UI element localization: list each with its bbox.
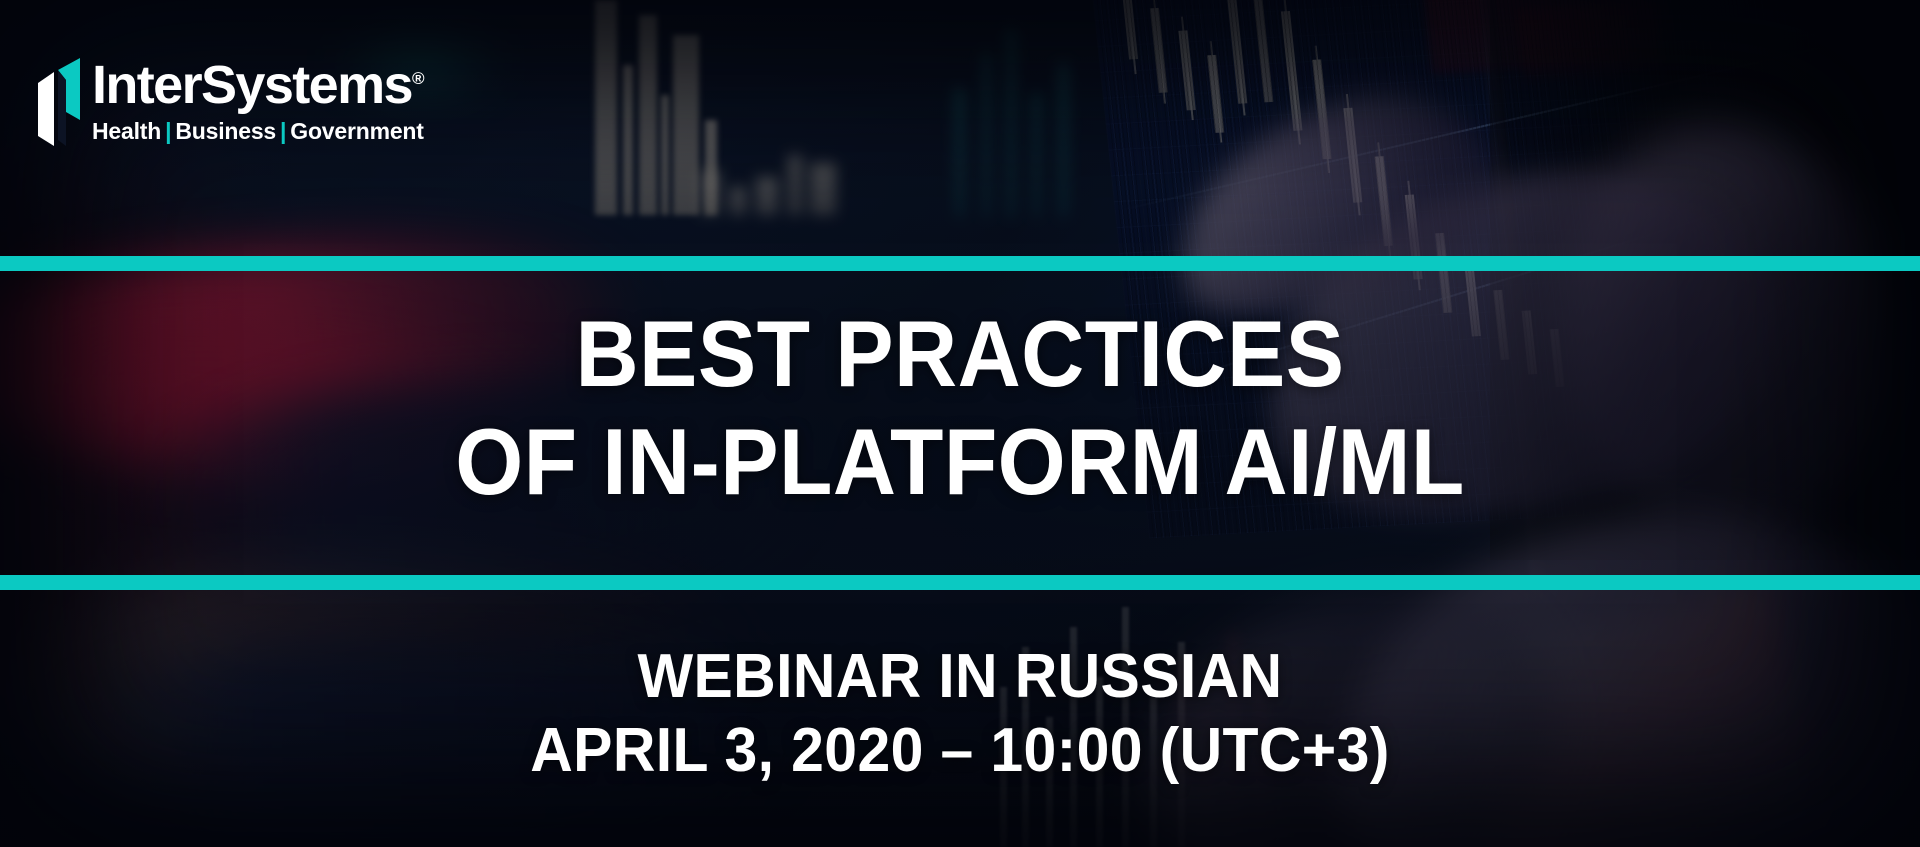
logo-tagline-separator-1: | (161, 118, 175, 144)
webinar-banner: InterSystems® Health|Business|Government… (0, 0, 1920, 847)
logo-tagline: Health|Business|Government (92, 119, 425, 144)
registered-trademark-icon: ® (412, 69, 425, 88)
logo-tagline-separator-2: | (276, 118, 290, 144)
teal-divider-top (0, 256, 1920, 271)
logo-tagline-business: Business (175, 118, 276, 144)
teal-divider-bottom (0, 575, 1920, 590)
logo-text-block: InterSystems® Health|Business|Government (92, 58, 425, 144)
intersystems-logo[interactable]: InterSystems® Health|Business|Government (36, 58, 425, 146)
logo-wordmark: InterSystems® (92, 58, 425, 112)
logo-wordmark-text: InterSystems (92, 55, 412, 115)
logo-tagline-government: Government (290, 118, 423, 144)
intersystems-bracket-mark (36, 58, 82, 146)
logo-tagline-health: Health (92, 118, 161, 144)
